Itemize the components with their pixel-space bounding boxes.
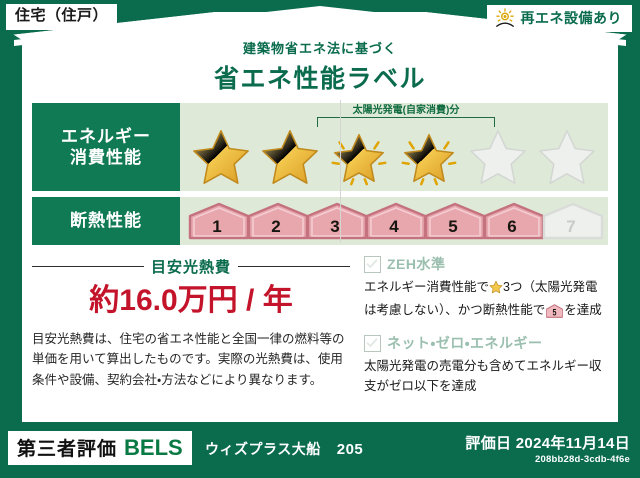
evaluation-date-value: 2024年11月14日 [516,435,630,452]
building-info: ウィズプラス大船 205 [205,439,363,459]
insulation-grade-6-value: 6 [507,218,516,240]
column-divider [340,100,341,242]
insulation-performance-row: 断熱性能 1 2 [32,197,608,245]
label-title: 省エネ性能ラベル [0,59,640,95]
insulation-grade-1: 1 [188,202,246,240]
bels-logo: BELS [124,435,183,461]
star-filled-solar-4 [398,126,460,188]
certificate-id: 208bb28d-3cdb-4f6e [465,454,630,465]
star-filled-1 [190,126,252,188]
energy-performance-label: 住宅（住戸） 再エネ設備あり 建築物省エネ法に基づく 省エネ性能ラベル [0,0,640,478]
heading-rule-left [32,266,144,267]
criterion-zeh-body: エネルギー消費性能で3つ（太陽光発電は考慮しない）、かつ断熱性能で5を達成 [364,277,608,324]
criterion-zeh-text-3: を達成 [564,303,602,317]
insulation-performance-body: 1 2 3 [180,197,608,245]
criterion-zeh: ZEH水準 エネルギー消費性能で3つ（太陽光発電は考慮しない）、かつ断熱性能で5… [364,254,608,324]
insulation-grade-2: 2 [247,202,305,240]
insulation-grade-scale: 1 2 3 [180,197,608,245]
utility-cost-heading: 目安光熱費 [32,256,350,277]
evaluation-date-block: 評価日 2024年11月14日 208bb28d-3cdb-4f6e [465,432,630,465]
insulation-grade-6: 6 [483,202,541,240]
insulation-grade-3-value: 3 [330,218,339,240]
criterion-zeh-text-1: エネルギー消費性能で [364,280,489,294]
criterion-net-zero-body: 太陽光発電の売電分も含めてエネルギー収支がゼロ以下を達成 [364,356,608,396]
heading-rule-right [238,266,350,267]
utility-cost-block: 目安光熱費 約16.0万円 / 年 目安光熱費は、住宅の省エネ性能と全国一律の燃… [32,254,350,404]
criterion-zeh-title: ZEH水準 [387,254,446,274]
star-rating [180,126,608,188]
check-mark-icon [366,258,378,270]
solar-annotation-text: 太陽光発電(自家消費)分 [317,105,495,116]
insulation-grade-1-value: 1 [212,218,221,240]
star-filled-2 [259,126,321,188]
evaluation-date-label: 評価日 [465,435,511,452]
solar-annotation: 太陽光発電(自家消費)分 [317,105,495,127]
checkbox-unchecked-icon [364,256,381,273]
check-mark-icon [366,337,378,349]
criterion-zeh-header: ZEH水準 [364,254,608,274]
energy-performance-row: エネルギー 消費性能 太陽光発電(自家消費)分 [32,103,608,191]
utility-cost-value: 約16.0万円 / 年 [32,284,350,317]
energy-label-line2: 消費性能 [61,147,151,168]
insulation-grade-7-value: 7 [566,218,575,240]
criterion-net-zero-title: ネット・ゼロ・エネルギー [387,333,543,353]
star-empty-6 [536,126,598,188]
criteria-block: ZEH水準 エネルギー消費性能で3つ（太陽光発電は考慮しない）、かつ断熱性能で5… [350,254,608,404]
label-card: エネルギー 消費性能 太陽光発電(自家消費)分 [22,96,618,416]
utility-cost-note: 目安光熱費は、住宅の省エネ性能と全国一律の燃料等の単価を用いて算出したものです。… [32,329,350,390]
checkbox-unchecked-icon [364,335,381,352]
criterion-zeh-star-count: 3つ [503,280,522,294]
criterion-net-zero: ネット・ゼロ・エネルギー 太陽光発電の売電分も含めてエネルギー収支がゼロ以下を達… [364,333,608,396]
renewable-badge-label: 再エネ設備あり [521,8,623,28]
energy-label-line1: エネルギー [61,126,151,147]
third-party-evaluation-label: 第三者評価 [17,434,117,461]
energy-performance-label-box: エネルギー 消費性能 [32,103,180,191]
criterion-net-zero-header: ネット・ゼロ・エネルギー [364,333,608,353]
label-subtitle: 建築物省エネ法に基づく [0,38,640,57]
star-empty-5 [467,126,529,188]
utility-cost-heading-text: 目安光熱費 [151,256,231,277]
evaluation-date: 評価日 2024年11月14日 [465,432,630,453]
inline-star-icon [489,280,503,300]
third-party-evaluation-badge: 第三者評価 BELS [8,431,192,465]
energy-performance-body: 太陽光発電(自家消費)分 [180,103,608,191]
room-number: 205 [337,441,364,458]
insulation-grade-2-value: 2 [271,218,280,240]
renewable-equipment-badge: 再エネ設備あり [487,5,633,32]
svg-text:5: 5 [553,306,557,317]
label-footer: 第三者評価 BELS ウィズプラス大船 205 評価日 2024年11月14日 … [0,422,640,478]
inline-grade-icon: 5 [546,304,563,324]
insulation-grade-7: 7 [542,202,600,240]
building-name: ウィズプラス大船 [205,439,321,459]
insulation-performance-label-box: 断熱性能 [32,197,180,245]
insulation-grade-4-value: 4 [389,218,398,240]
insulation-grade-5: 5 [424,202,482,240]
house-type-tag: 住宅（住戸） [6,4,117,30]
label-header: 建築物省エネ法に基づく 省エネ性能ラベル [0,38,640,95]
star-filled-solar-3 [328,126,390,188]
lower-section: 目安光熱費 約16.0万円 / 年 目安光熱費は、住宅の省エネ性能と全国一律の燃… [32,254,608,404]
insulation-grade-5-value: 5 [448,218,457,240]
insulation-grade-4: 4 [365,202,423,240]
sun-icon [494,8,516,28]
insulation-grade-3: 3 [306,202,364,240]
